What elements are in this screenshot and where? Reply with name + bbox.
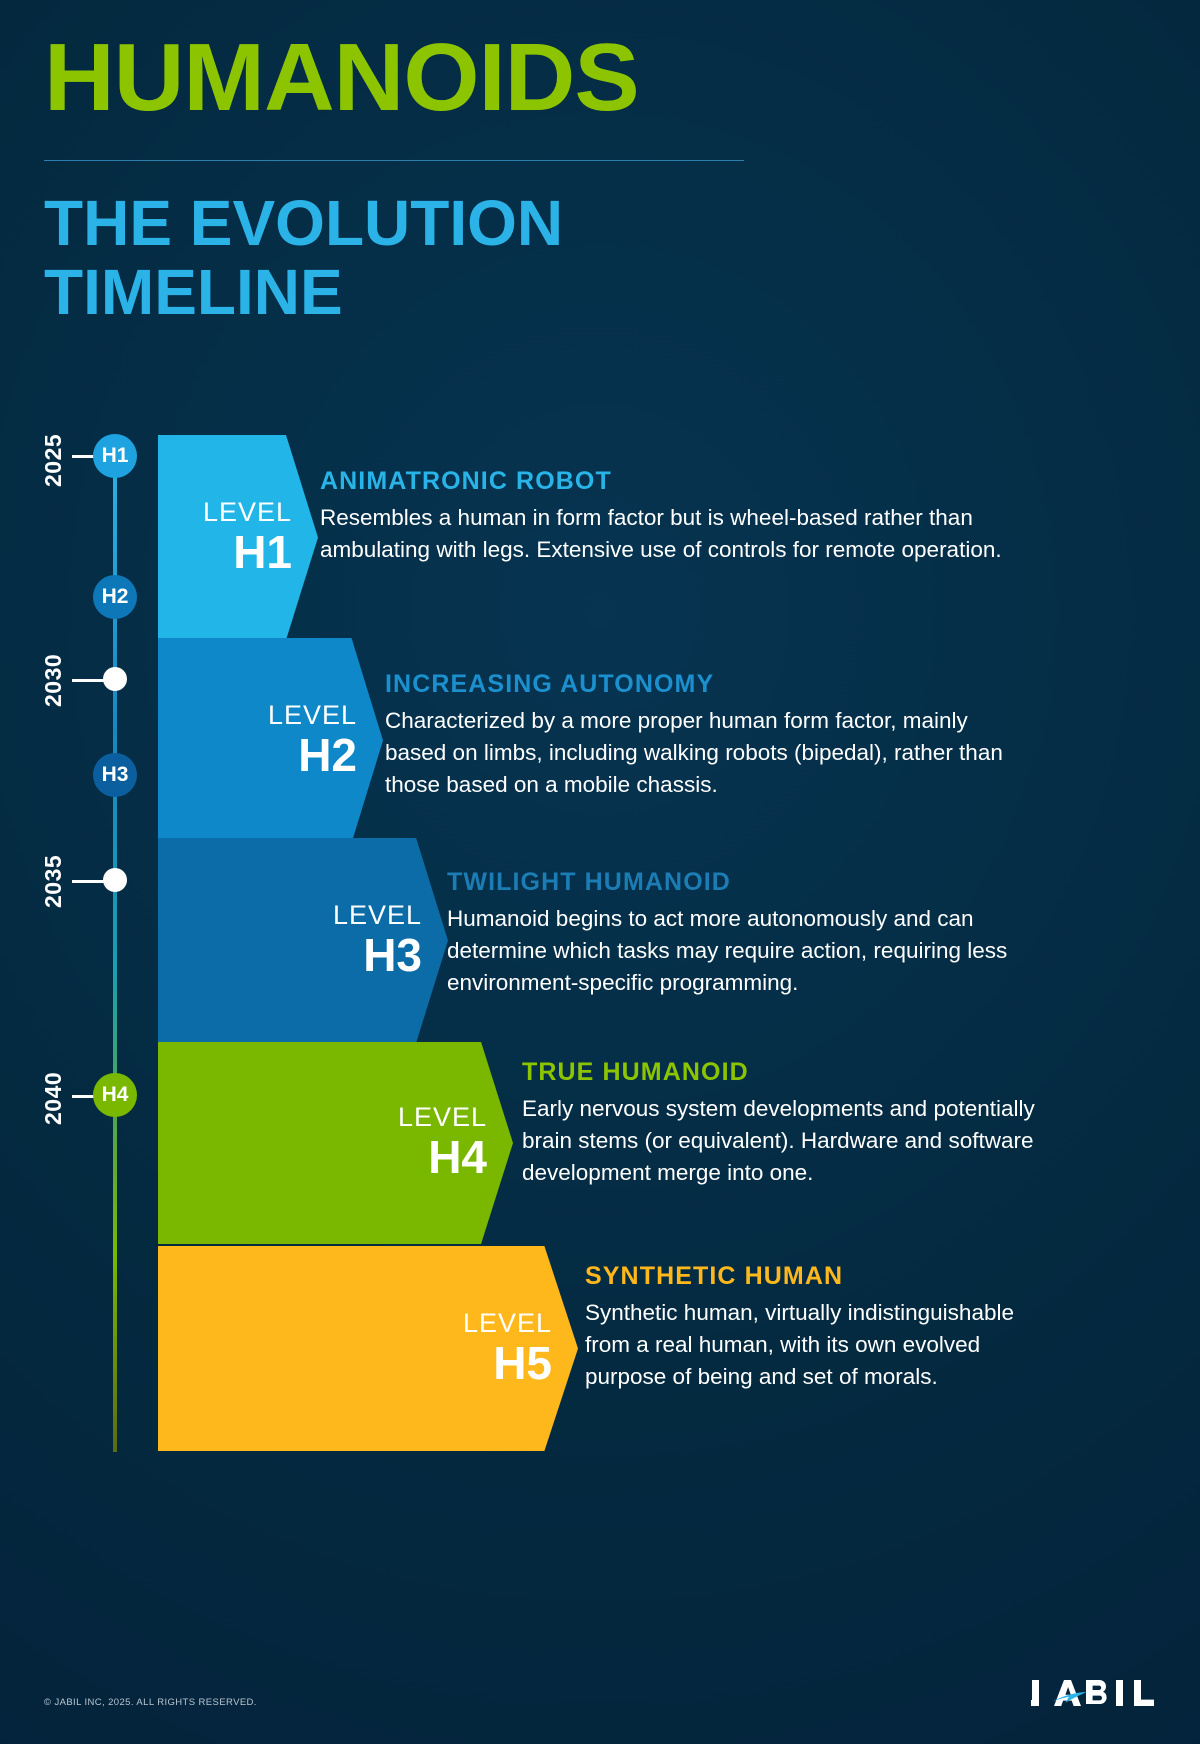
level-chevron-h5: LEVEL H5	[158, 1246, 578, 1451]
level-code-h3: H3	[363, 931, 422, 979]
header: HUMANOIDS THE EVOLUTION TIMELINE	[44, 30, 804, 327]
page-title: HUMANOIDS	[44, 30, 819, 126]
header-divider	[44, 160, 744, 161]
timeline-node-h2[interactable]: H2	[93, 575, 137, 619]
level-text-h2: INCREASING AUTONOMY Characterized by a m…	[385, 670, 1035, 801]
level-code-h1: H1	[233, 528, 292, 576]
timeline-tick-2030	[72, 679, 104, 682]
level-code-h2: H2	[298, 731, 357, 779]
timeline-node-2030	[103, 667, 127, 691]
level-chevron-h4: LEVEL H4	[158, 1042, 513, 1244]
level-text-h1: ANIMATRONIC ROBOT Resembles a human in f…	[320, 467, 1040, 566]
level-chevron-h2: LEVEL H2	[158, 638, 383, 843]
timeline-node-2035	[103, 868, 127, 892]
timeline-node-h4[interactable]: H4	[93, 1073, 137, 1117]
level-heading-h2: INCREASING AUTONOMY	[385, 670, 1035, 699]
level-chevron-h1: LEVEL H1	[158, 435, 318, 640]
level-heading-h5: SYNTHETIC HUMAN	[585, 1262, 1045, 1291]
level-code-h5: H5	[493, 1339, 552, 1387]
level-label-h2: LEVEL	[268, 702, 357, 729]
copyright-notice: © JABIL INC, 2025. ALL RIGHTS RESERVED.	[44, 1697, 257, 1708]
timeline-year-2025: 2025	[40, 420, 67, 500]
level-label-h3: LEVEL	[333, 902, 422, 929]
level-code-h4: H4	[428, 1133, 487, 1181]
level-heading-h4: TRUE HUMANOID	[522, 1058, 1042, 1087]
level-text-h5: SYNTHETIC HUMAN Synthetic human, virtual…	[585, 1262, 1045, 1393]
timeline-node-h3[interactable]: H3	[93, 753, 137, 797]
level-heading-h3: TWILIGHT HUMANOID	[447, 868, 1037, 897]
timeline-node-h1[interactable]: H1	[93, 434, 137, 478]
level-text-h4: TRUE HUMANOID Early nervous system devel…	[522, 1058, 1042, 1189]
level-description-h5: Synthetic human, virtually indistinguish…	[585, 1297, 1045, 1393]
level-label-h4: LEVEL	[398, 1104, 487, 1131]
jabil-logo	[1030, 1672, 1156, 1714]
page-subtitle: THE EVOLUTION TIMELINE	[44, 189, 804, 327]
level-description-h4: Early nervous system developments and po…	[522, 1093, 1042, 1189]
level-label-h1: LEVEL	[203, 499, 292, 526]
level-description-h1: Resembles a human in form factor but is …	[320, 502, 1040, 566]
level-text-h3: TWILIGHT HUMANOID Humanoid begins to act…	[447, 868, 1037, 999]
timeline-year-2035: 2035	[40, 841, 67, 921]
poster-canvas: HUMANOIDS THE EVOLUTION TIMELINE 2025 20…	[0, 0, 1200, 1744]
level-description-h2: Characterized by a more proper human for…	[385, 705, 1035, 801]
level-description-h3: Humanoid begins to act more autonomously…	[447, 903, 1037, 999]
timeline-year-2040: 2040	[40, 1058, 67, 1138]
timeline-tick-2035	[72, 880, 104, 883]
timeline-year-2030: 2030	[40, 640, 67, 720]
level-chevron-h3: LEVEL H3	[158, 838, 448, 1043]
level-heading-h1: ANIMATRONIC ROBOT	[320, 467, 1040, 496]
level-label-h5: LEVEL	[463, 1310, 552, 1337]
